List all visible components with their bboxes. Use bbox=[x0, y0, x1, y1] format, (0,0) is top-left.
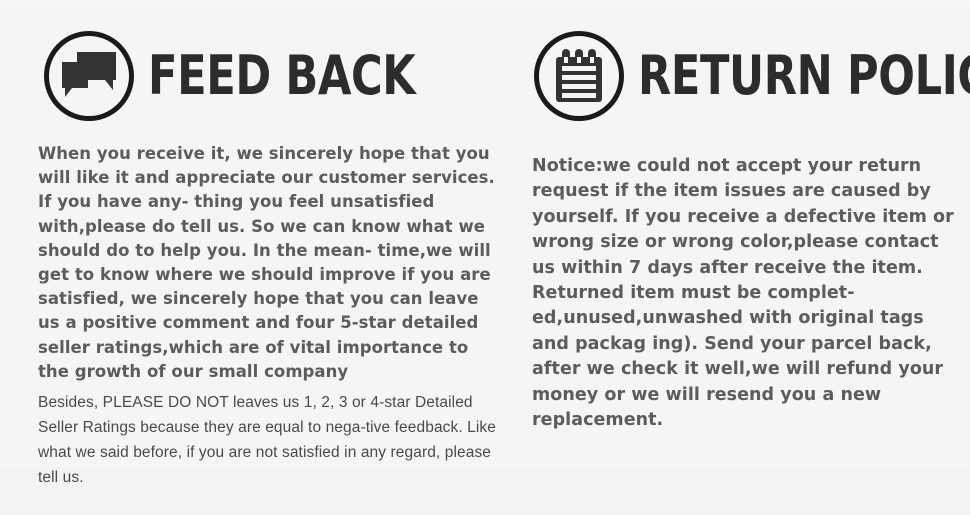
return-policy-title: RETURN POLICY bbox=[638, 48, 970, 104]
notepad-icon bbox=[534, 31, 624, 121]
speech-bubbles-icon bbox=[44, 31, 134, 121]
feedback-note-text: Besides, PLEASE DO NOT leaves us 1, 2, 3… bbox=[38, 390, 500, 490]
return-policy-header: RETURN POLICY bbox=[534, 31, 970, 121]
feedback-body-text: When you receive it, we sincerely hope t… bbox=[38, 142, 500, 384]
feedback-title: FEED BACK bbox=[148, 48, 415, 104]
feedback-header: FEED BACK bbox=[44, 31, 482, 121]
return-policy-body-text: Notice:we could not accept your return r… bbox=[532, 154, 956, 433]
policy-banner: FEED BACK RETURN POLICY bbox=[0, 0, 970, 515]
